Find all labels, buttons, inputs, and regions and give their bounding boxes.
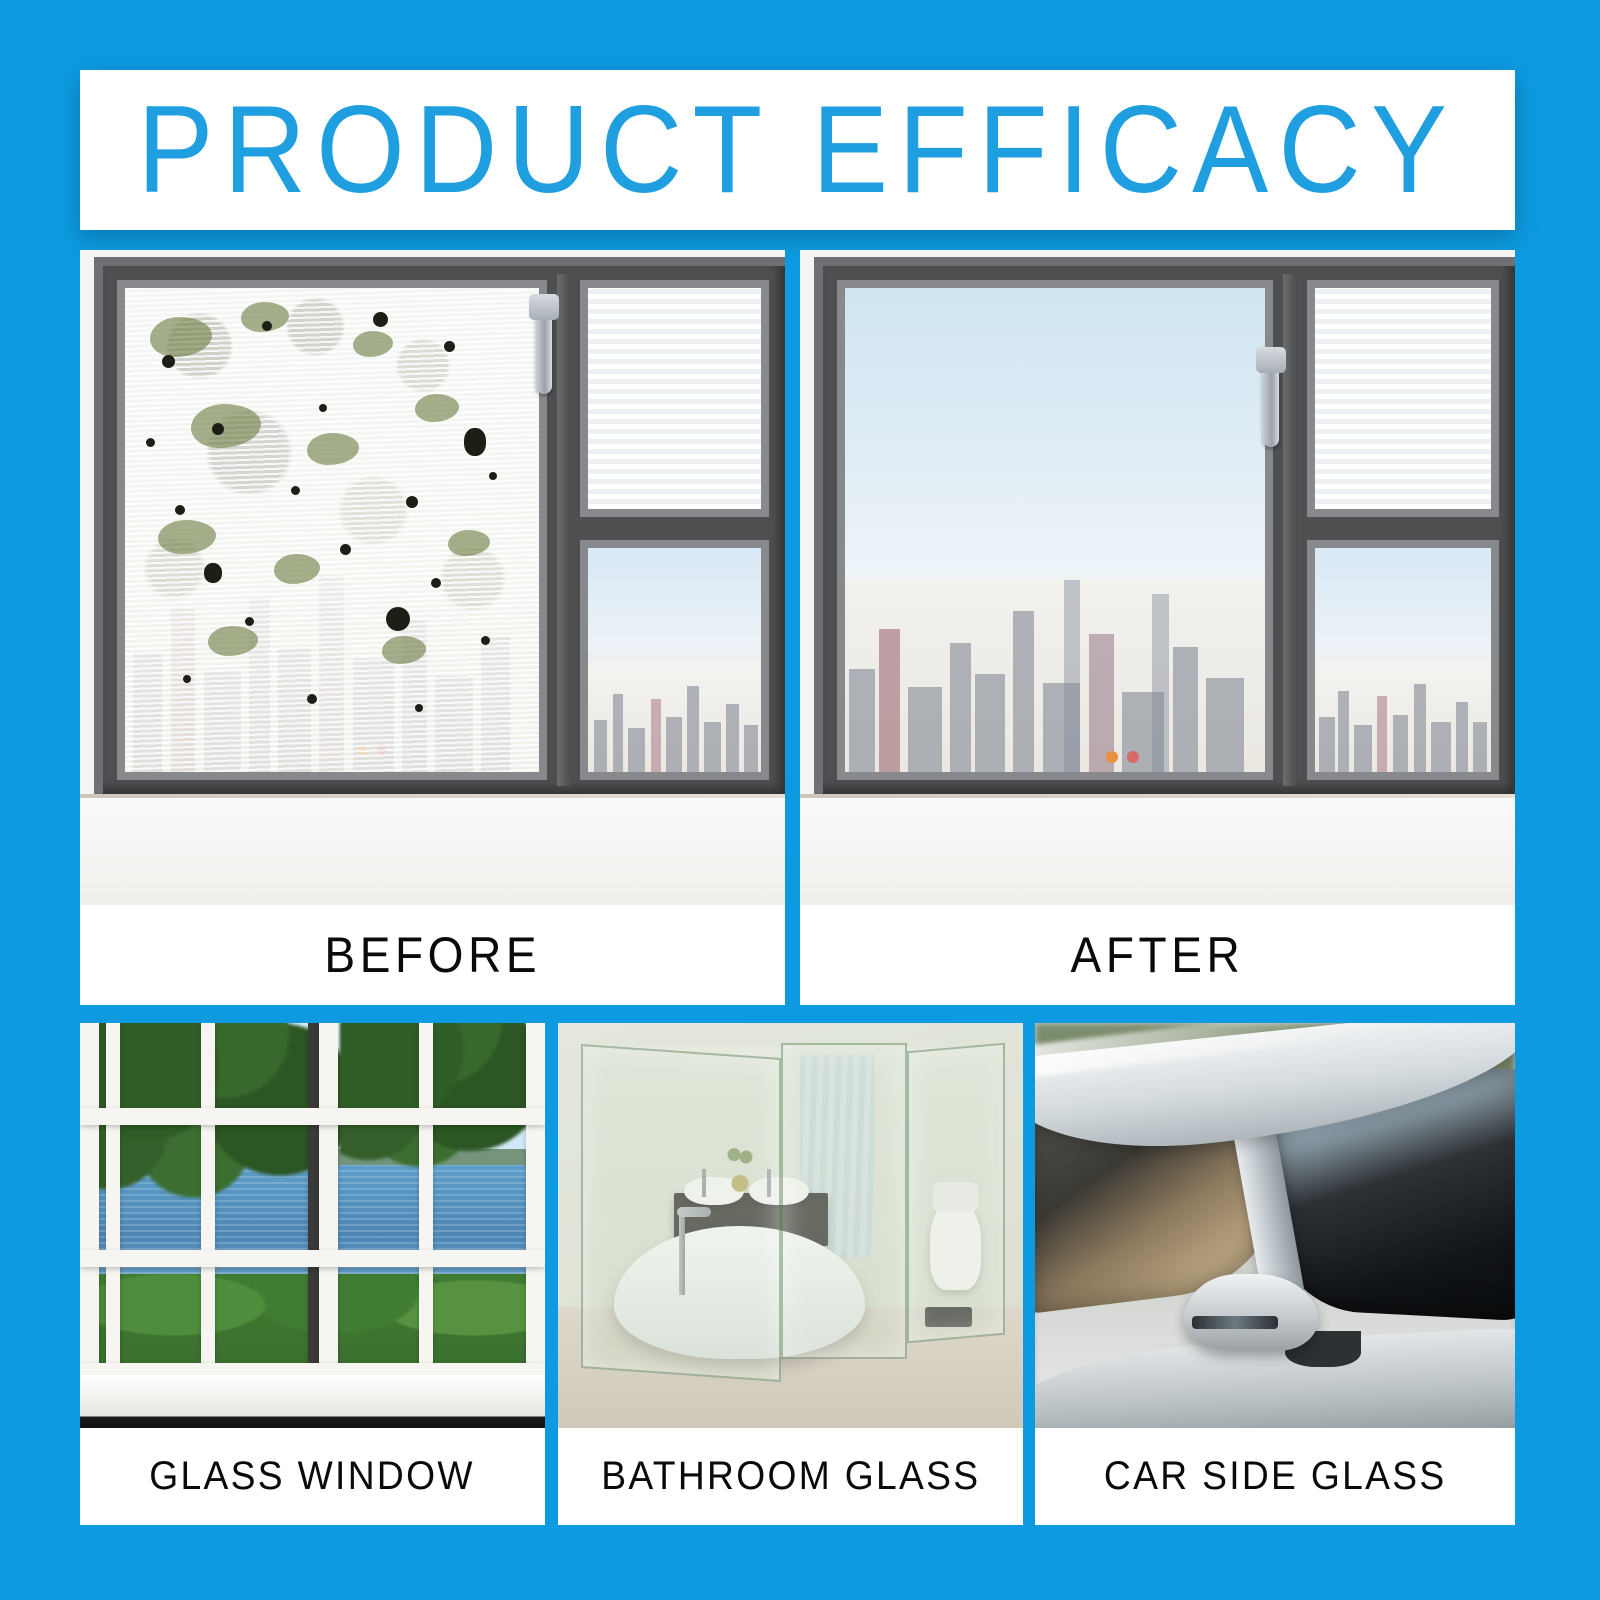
title-bar: PRODUCT EFFICACY xyxy=(80,70,1515,230)
after-label: AFTER xyxy=(1071,926,1245,984)
window-wall xyxy=(80,794,785,905)
glass-window-label: GLASS WINDOW xyxy=(150,1454,476,1499)
car-side-glass-label: CAR SIDE GLASS xyxy=(1104,1454,1447,1499)
clear-corner-pane xyxy=(580,540,769,780)
wing-mirror xyxy=(1184,1274,1318,1351)
bathroom-glass-photo xyxy=(558,1023,1023,1428)
car-side-glass-photo xyxy=(1035,1023,1515,1428)
bathroom-glass-card: BATHROOM GLASS xyxy=(558,1023,1023,1525)
before-card: BEFORE xyxy=(80,250,785,1005)
city-view xyxy=(845,288,1265,772)
bathroom-glass-caption: BATHROOM GLASS xyxy=(558,1428,1023,1525)
bathroom-illustration xyxy=(558,1023,1023,1428)
before-label: BEFORE xyxy=(324,926,541,984)
lake-window-illustration xyxy=(80,1023,545,1428)
window-handle-icon xyxy=(536,308,552,394)
page-title: PRODUCT EFFICACY xyxy=(138,88,1458,212)
dirty-pane xyxy=(117,280,547,780)
after-card: AFTER xyxy=(800,250,1515,1005)
glass-window-caption: GLASS WINDOW xyxy=(80,1428,545,1525)
car-side-glass-caption: CAR SIDE GLASS xyxy=(1035,1428,1515,1525)
glass-partition-centre xyxy=(781,1043,907,1359)
glass-partition-left xyxy=(581,1044,781,1382)
car-side-glass-card: CAR SIDE GLASS xyxy=(1035,1023,1515,1525)
city-view-behind-grime xyxy=(125,288,539,772)
before-photo xyxy=(80,250,785,905)
glass-partition-right xyxy=(907,1043,1005,1343)
after-photo xyxy=(800,250,1515,905)
window-handle-icon xyxy=(1263,361,1279,447)
glass-window-photo xyxy=(80,1023,545,1428)
bathroom-glass-label: BATHROOM GLASS xyxy=(601,1454,980,1499)
window-frame xyxy=(94,257,785,794)
clean-window-illustration xyxy=(800,250,1515,905)
window-frame xyxy=(814,257,1515,794)
tree-canopy-right xyxy=(340,1023,545,1201)
clear-pane xyxy=(837,280,1273,780)
window-sill xyxy=(80,1375,545,1428)
frosted-pane xyxy=(580,280,769,518)
product-efficacy-poster: PRODUCT EFFICACY xyxy=(0,0,1600,1600)
window-mullion xyxy=(557,274,571,786)
after-caption: AFTER xyxy=(800,905,1515,1005)
before-caption: BEFORE xyxy=(80,905,785,1005)
dirty-window-illustration xyxy=(80,250,785,905)
frosted-pane xyxy=(1307,280,1499,518)
window-wall xyxy=(800,794,1515,905)
car-illustration xyxy=(1035,1023,1515,1428)
glass-window-card: GLASS WINDOW xyxy=(80,1023,545,1525)
clear-corner-pane xyxy=(1307,540,1499,780)
